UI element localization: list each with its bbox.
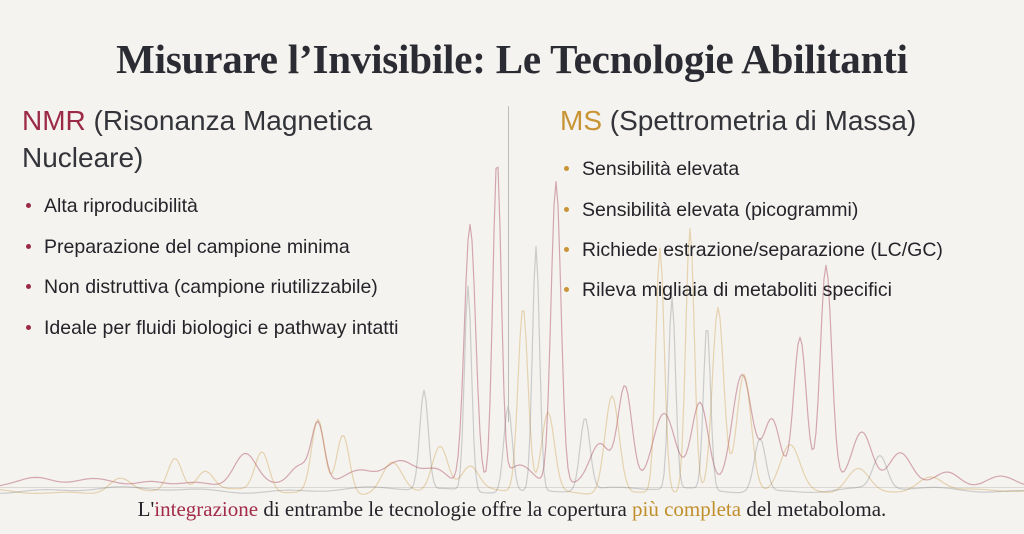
list-item-label: Sensibilità elevata xyxy=(582,158,739,180)
bullet-list-ms: Sensibilità elevata Sensibilità elevata … xyxy=(560,157,1012,303)
slide-root: Misurare l’Invisibile: Le Tecnologie Abi… xyxy=(0,0,1024,534)
list-item-label: Preparazione del campione minima xyxy=(44,236,350,258)
footer-segment-plain-0: L' xyxy=(138,497,155,521)
column-divider xyxy=(508,106,509,422)
list-item: Sensibilità elevata xyxy=(560,157,1012,182)
column-heading-nmr: NMR (Risonanza Magnetica Nucleare) xyxy=(22,102,488,176)
tech-expansion-ms: (Spettrometria di Massa) xyxy=(602,105,916,136)
bullet-dot-icon xyxy=(26,244,31,249)
list-item: Ideale per fluidi biologici e pathway in… xyxy=(22,316,488,341)
list-item-label: Ideale per fluidi biologici e pathway in… xyxy=(44,317,398,339)
list-item: Richiede estrazione/separazione (LC/GC) xyxy=(560,238,1012,263)
list-item: Preparazione del campione minima xyxy=(22,235,488,260)
tech-abbreviation-nmr: NMR xyxy=(22,105,86,136)
bullet-dot-icon xyxy=(564,247,569,252)
column-heading-ms: MS (Spettrometria di Massa) xyxy=(560,102,1012,139)
list-item: Alta riproducibilità xyxy=(22,194,488,219)
bullet-dot-icon xyxy=(26,203,31,208)
column-nmr: NMR (Risonanza Magnetica Nucleare) Alta … xyxy=(22,102,488,356)
tech-abbreviation-ms: MS xyxy=(560,105,602,136)
page-title: Misurare l’Invisibile: Le Tecnologie Abi… xyxy=(0,35,1024,83)
slide-content: Misurare l’Invisibile: Le Tecnologie Abi… xyxy=(0,0,1024,534)
bullet-dot-icon xyxy=(26,284,31,289)
list-item: Non distruttiva (campione riutilizzabile… xyxy=(22,275,488,300)
list-item-label: Rileva migliaia di metaboliti specifici xyxy=(582,279,892,301)
list-item-label: Alta riproducibilità xyxy=(44,195,198,217)
bullet-dot-icon xyxy=(564,287,569,292)
footer-segment-plain-4: del metaboloma. xyxy=(741,497,886,521)
list-item-label: Richiede estrazione/separazione (LC/GC) xyxy=(582,239,943,261)
footer-segment-gold-3: più completa xyxy=(632,497,741,521)
list-item-label: Non distruttiva (campione riutilizzabile… xyxy=(44,276,378,298)
bullet-dot-icon xyxy=(564,166,569,171)
bullet-dot-icon xyxy=(564,207,569,212)
footer-segment-plain-2: di entrambe le tecnologie offre la coper… xyxy=(258,497,632,521)
list-item: Rileva migliaia di metaboliti specifici xyxy=(560,278,1012,303)
footer-segment-crimson-1: integrazione xyxy=(154,497,258,521)
list-item-label: Sensibilità elevata (picogrammi) xyxy=(582,199,858,221)
footer-caption: L'integrazione di entrambe le tecnologie… xyxy=(0,497,1024,522)
footer-separator xyxy=(0,487,1024,488)
bullet-dot-icon xyxy=(26,325,31,330)
column-ms: MS (Spettrometria di Massa) Sensibilità … xyxy=(560,102,1012,319)
list-item: Sensibilità elevata (picogrammi) xyxy=(560,198,1012,223)
bullet-list-nmr: Alta riproducibilità Preparazione del ca… xyxy=(22,194,488,340)
